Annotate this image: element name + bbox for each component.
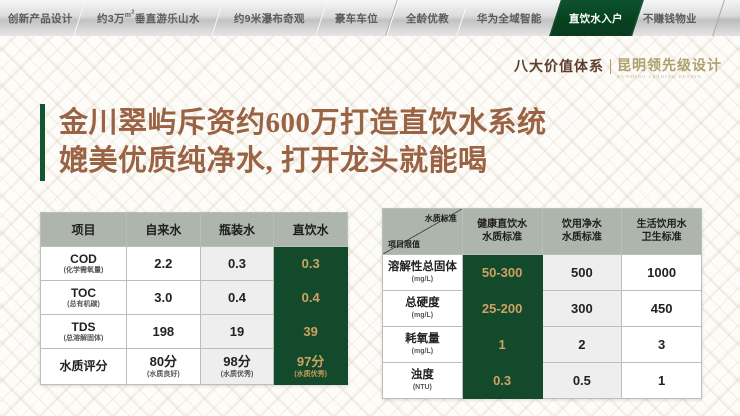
row-label-unit: (NTU): [383, 384, 462, 392]
cell-oxygen-domestic: 3: [622, 327, 702, 363]
table-left-body: COD (化学需氧量) 2.2 0.3 0.3 TOC (总有机碳) 3.0 0…: [41, 247, 348, 385]
cell-sub: (水质优秀): [201, 371, 274, 379]
nav-tab-label: 约3万m2垂直游乐山水: [97, 10, 200, 26]
cell-cod-direct: 0.3: [274, 247, 348, 281]
nav-tab-6-active[interactable]: 直饮水入户: [549, 0, 643, 36]
cell-solids-purified: 500: [542, 255, 622, 291]
cell-score-direct: 97分 (水质优秀): [274, 349, 348, 385]
th-tap-water: 自来水: [127, 213, 201, 247]
table-row: 浊度 (NTU) 0.3 0.5 1: [383, 363, 702, 399]
row-label-sub: (总溶解固体): [41, 335, 126, 343]
th-line-1: 生活饮用水: [622, 219, 701, 232]
nav-tab-7[interactable]: 不赚钱物业: [630, 0, 724, 36]
row-label-sub: (化学需氧量): [41, 267, 126, 275]
row-label-tds: TDS (总溶解固体): [41, 315, 127, 349]
water-comparison-table: 项目 自来水 瓶装水 直饮水 COD (化学需氧量) 2.2 0.3 0.3: [40, 212, 348, 385]
table-row: 耗氧量 (mg/L) 1 2 3: [383, 327, 702, 363]
row-label-unit: (mg/L): [383, 348, 462, 356]
th-line-2: 水质标准: [543, 232, 622, 245]
cell-tds-tap: 198: [127, 315, 201, 349]
row-label-hardness: 总硬度 (mg/L): [383, 291, 463, 327]
row-label-sub: (总有机碳): [41, 301, 126, 309]
nav-tab-label: 不赚钱物业: [644, 11, 698, 26]
nav-tab-label: 创新产品设计: [8, 11, 73, 26]
table-row: 溶解性总固体 (mg/L) 50-300 500 1000: [383, 255, 702, 291]
row-label-score: 水质评分: [41, 349, 127, 385]
row-label-main: 浊度: [411, 369, 434, 381]
table-right-body: 溶解性总固体 (mg/L) 50-300 500 1000 总硬度 (mg/L)…: [383, 255, 702, 399]
corner-label-limit: 项目限值: [388, 240, 420, 250]
row-label-main: TOC: [71, 286, 96, 300]
headline-accent-bar: [40, 104, 45, 181]
cell-tds-bottled: 19: [200, 315, 274, 349]
headline-line-2: 媲美优质纯净水, 打开龙头就能喝: [59, 142, 547, 180]
cell-oxygen-healthy: 1: [462, 327, 542, 363]
row-label-oxygen-consumption: 耗氧量 (mg/L): [383, 327, 463, 363]
th-corner-split: 水质标准 项目限值: [383, 209, 463, 255]
table-row: 总硬度 (mg/L) 25-200 300 450: [383, 291, 702, 327]
th-healthy-direct-drinking: 健康直饮水 水质标准: [462, 209, 542, 255]
row-label-main: 总硬度: [405, 297, 440, 309]
cell-value: 97分: [297, 354, 324, 369]
nav-tab-4[interactable]: 全龄优教: [386, 0, 469, 36]
nav-tab-1[interactable]: 约3万m2垂直游乐山水: [73, 0, 224, 36]
nav-tab-label: 直饮水入户: [569, 11, 623, 26]
cell-value: 98分: [223, 354, 250, 369]
row-label-main: TDS: [72, 320, 96, 334]
nav-tab-label: 全龄优教: [406, 11, 449, 26]
row-label-turbidity: 浊度 (NTU): [383, 363, 463, 399]
cell-sub: (水质良好): [127, 371, 200, 379]
table-row: COD (化学需氧量) 2.2 0.3 0.3: [41, 247, 348, 281]
cell-turbidity-domestic: 1: [622, 363, 702, 399]
brand-divider: [610, 59, 611, 74]
row-label-cod: COD (化学需氧量): [41, 247, 127, 281]
cell-toc-direct: 0.4: [274, 281, 348, 315]
corner-inner: 水质标准 项目限值: [383, 209, 462, 254]
cell-tds-direct: 39: [274, 315, 348, 349]
cell-score-tap: 80分 (水质良好): [127, 349, 201, 385]
row-label-main: 水质评分: [59, 359, 107, 373]
nav-tab-label: 约9米瀑布奇观: [234, 11, 305, 26]
cell-toc-tap: 3.0: [127, 281, 201, 315]
cell-hardness-purified: 300: [542, 291, 622, 327]
row-label-toc: TOC (总有机碳): [41, 281, 127, 315]
brand-side-block: 昆明领先级设计 KUNMING LEADING DESIGN: [617, 58, 722, 80]
table-row: TOC (总有机碳) 3.0 0.4 0.4: [41, 281, 348, 315]
nav-tab-label: 华为全域智能: [476, 11, 541, 26]
cell-turbidity-purified: 0.5: [542, 363, 622, 399]
brand-subtitle: 昆明领先级设计: [617, 58, 722, 72]
brand-main-title: 八大价值体系: [514, 58, 604, 73]
th-purified-drinking: 饮用净水 水质标准: [542, 209, 622, 255]
table-row: 水质评分 80分 (水质良好) 98分 (水质优秀) 97分 (水质优秀): [41, 349, 348, 385]
th-bottled: 瓶装水: [200, 213, 274, 247]
cell-solids-domestic: 1000: [622, 255, 702, 291]
row-label-tds-solids: 溶解性总固体 (mg/L): [383, 255, 463, 291]
cell-cod-tap: 2.2: [127, 247, 201, 281]
brand-latin-subtitle: KUNMING LEADING DESIGN: [617, 75, 722, 80]
cell-turbidity-healthy: 0.3: [462, 363, 542, 399]
th-item: 项目: [41, 213, 127, 247]
th-direct: 直饮水: [274, 213, 348, 247]
th-line-2: 卫生标准: [622, 232, 701, 245]
cell-sub: (水质优秀): [274, 371, 347, 379]
row-label-unit: (mg/L): [383, 276, 462, 284]
table-right: 水质标准 项目限值 健康直饮水 水质标准 饮用净水 水质标准 生活饮用水: [382, 208, 702, 399]
headline-block: 金川翠屿斥资约600万打造直饮水系统 媲美优质纯净水, 打开龙头就能喝: [40, 104, 547, 181]
nav-tab-0[interactable]: 创新产品设计: [0, 0, 86, 36]
row-label-main: 耗氧量: [405, 333, 440, 345]
nav-tab-label: 豪车车位: [335, 11, 378, 26]
table-right-head: 水质标准 项目限值 健康直饮水 水质标准 饮用净水 水质标准 生活饮用水: [383, 209, 702, 255]
table-row: TDS (总溶解固体) 198 19 39: [41, 315, 348, 349]
corner-label-standard: 水质标准: [425, 214, 457, 224]
top-navigation-bar: 创新产品设计 约3万m2垂直游乐山水 约9米瀑布奇观 豪车车位 全龄优教 华为全…: [0, 0, 740, 36]
cell-hardness-domestic: 450: [622, 291, 702, 327]
cell-value: 80分: [150, 354, 177, 369]
nav-tab-5[interactable]: 华为全域智能: [456, 0, 562, 36]
th-line-2: 水质标准: [463, 232, 542, 245]
nav-tab-2[interactable]: 约9米瀑布奇观: [211, 0, 328, 36]
headline-line-1: 金川翠屿斥资约600万打造直饮水系统: [59, 104, 547, 142]
cell-toc-bottled: 0.4: [200, 281, 274, 315]
brand-block: 八大价值体系 昆明领先级设计 KUNMING LEADING DESIGN: [514, 58, 722, 80]
table-left: 项目 自来水 瓶装水 直饮水 COD (化学需氧量) 2.2 0.3 0.3: [40, 212, 348, 385]
headline-text: 金川翠屿斥资约600万打造直饮水系统 媲美优质纯净水, 打开龙头就能喝: [59, 104, 547, 181]
table-header-row: 项目 自来水 瓶装水 直饮水: [41, 213, 348, 247]
cell-oxygen-purified: 2: [542, 327, 622, 363]
row-label-unit: (mg/L): [383, 312, 462, 320]
th-line-1: 健康直饮水: [463, 219, 542, 232]
slide-canvas: 创新产品设计 约3万m2垂直游乐山水 约9米瀑布奇观 豪车车位 全龄优教 华为全…: [0, 0, 740, 416]
row-label-main: 溶解性总固体: [388, 261, 457, 273]
cell-solids-healthy: 50-300: [462, 255, 542, 291]
nav-tab-3[interactable]: 豪车车位: [315, 0, 398, 36]
row-label-main: COD: [70, 252, 97, 266]
th-line-1: 饮用净水: [543, 219, 622, 232]
cell-score-bottled: 98分 (水质优秀): [200, 349, 274, 385]
th-domestic-drinking: 生活饮用水 卫生标准: [622, 209, 702, 255]
table-header-row: 水质标准 项目限值 健康直饮水 水质标准 饮用净水 水质标准 生活饮用水: [383, 209, 702, 255]
cell-hardness-healthy: 25-200: [462, 291, 542, 327]
water-standards-table: 水质标准 项目限值 健康直饮水 水质标准 饮用净水 水质标准 生活饮用水: [382, 208, 702, 399]
cell-cod-bottled: 0.3: [200, 247, 274, 281]
table-left-head: 项目 自来水 瓶装水 直饮水: [41, 213, 348, 247]
